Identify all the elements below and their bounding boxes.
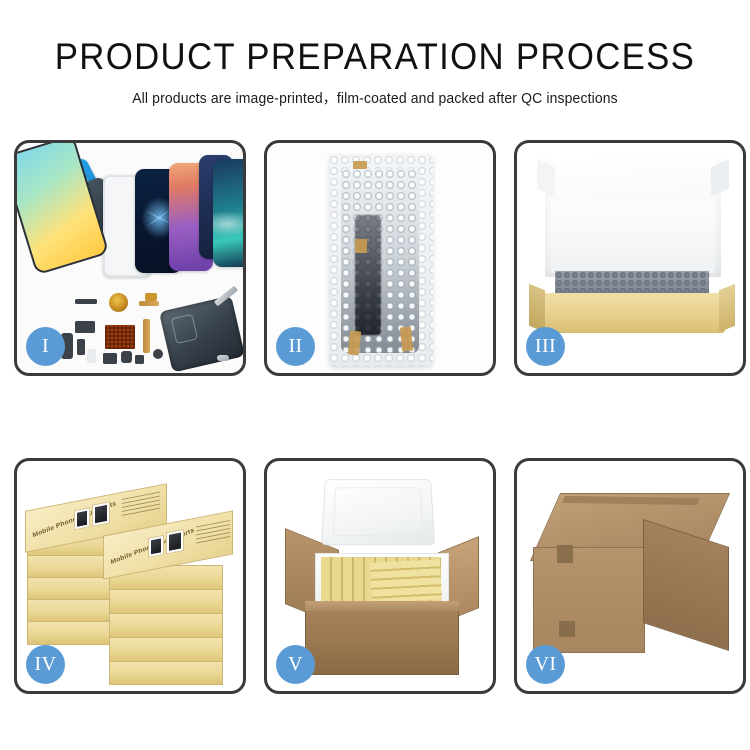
module-part-icon: [75, 321, 95, 333]
step-badge-5: V: [276, 645, 315, 684]
screw-plate-part-icon: [135, 355, 144, 364]
step-badge-2: II: [276, 327, 315, 366]
tape-piece-top-icon: [353, 161, 367, 169]
stacked-box-r2: [109, 589, 223, 615]
carton-tab-upper: [557, 545, 573, 563]
large-phone-image: [17, 143, 109, 275]
teal-wave-phone-image: [213, 159, 243, 267]
process-step-6: VI: [514, 458, 746, 694]
process-step-4: Mobile Phone Spare Parts Mobile Phone Sp…: [14, 458, 246, 694]
bubble-wrap-bag-image: [329, 155, 433, 367]
step-badge-4: IV: [26, 645, 65, 684]
product-preparation-infographic: PRODUCT PREPARATION PROCESS All products…: [0, 0, 750, 750]
vibrator-part-icon: [121, 351, 132, 363]
box-artwork-lower-2: [166, 529, 184, 554]
carton-front-face: [533, 547, 645, 653]
round-part-icon: [153, 349, 163, 359]
small-module-part-icon: [103, 353, 117, 364]
box-spec-lines-upper: [122, 492, 160, 519]
foam-sheet-image: [551, 201, 715, 273]
wrapped-screen-image: [355, 215, 381, 335]
step-badge-1: I: [26, 327, 65, 366]
process-step-3: III: [514, 140, 746, 376]
box-spec-lines-lower: [196, 520, 230, 547]
flex-cable-part-icon: [139, 301, 159, 306]
yellow-box-tray-image: [539, 293, 725, 333]
connector-part-icon: [75, 299, 97, 304]
packed-yellow-boxes-angled-image: [370, 559, 442, 603]
carton-side-face: [643, 519, 729, 651]
box-artwork-lower-1: [148, 535, 164, 558]
carton-body-image: [305, 601, 459, 675]
stacked-box-r4: [109, 637, 223, 663]
chip-board-part-icon: [105, 325, 135, 349]
metal-clip-part-icon: [217, 355, 229, 361]
step-badge-3: III: [526, 327, 565, 366]
button-part-icon: [87, 349, 96, 363]
process-step-grid: I II III: [14, 140, 736, 694]
phone-back-housing-image: [159, 295, 243, 372]
bracket-part-icon: [77, 339, 85, 355]
ribbon-cable-part-icon: [143, 319, 150, 353]
speaker-part-icon: [109, 293, 128, 312]
stacked-box-r3: [109, 613, 223, 639]
box-artwork-upper-1: [74, 507, 90, 530]
tape-piece-middle-icon: [355, 239, 367, 253]
process-step-1: I: [14, 140, 246, 376]
stacked-box-r5: [109, 661, 223, 685]
step-badge-6: VI: [526, 645, 565, 684]
gold-contact-part-icon: [145, 293, 157, 301]
box-artwork-upper-2: [92, 501, 110, 526]
page-title: PRODUCT PREPARATION PROCESS: [23, 38, 728, 77]
header: PRODUCT PREPARATION PROCESS All products…: [0, 38, 750, 108]
process-step-5: V: [264, 458, 496, 694]
process-step-2: II: [264, 140, 496, 376]
carton-tab-lower: [559, 621, 575, 637]
tape-piece-lower-right-icon: [400, 326, 413, 351]
page-subtitle: All products are image-printed，film-coat…: [11, 87, 739, 108]
styrofoam-lid-image: [321, 479, 435, 545]
